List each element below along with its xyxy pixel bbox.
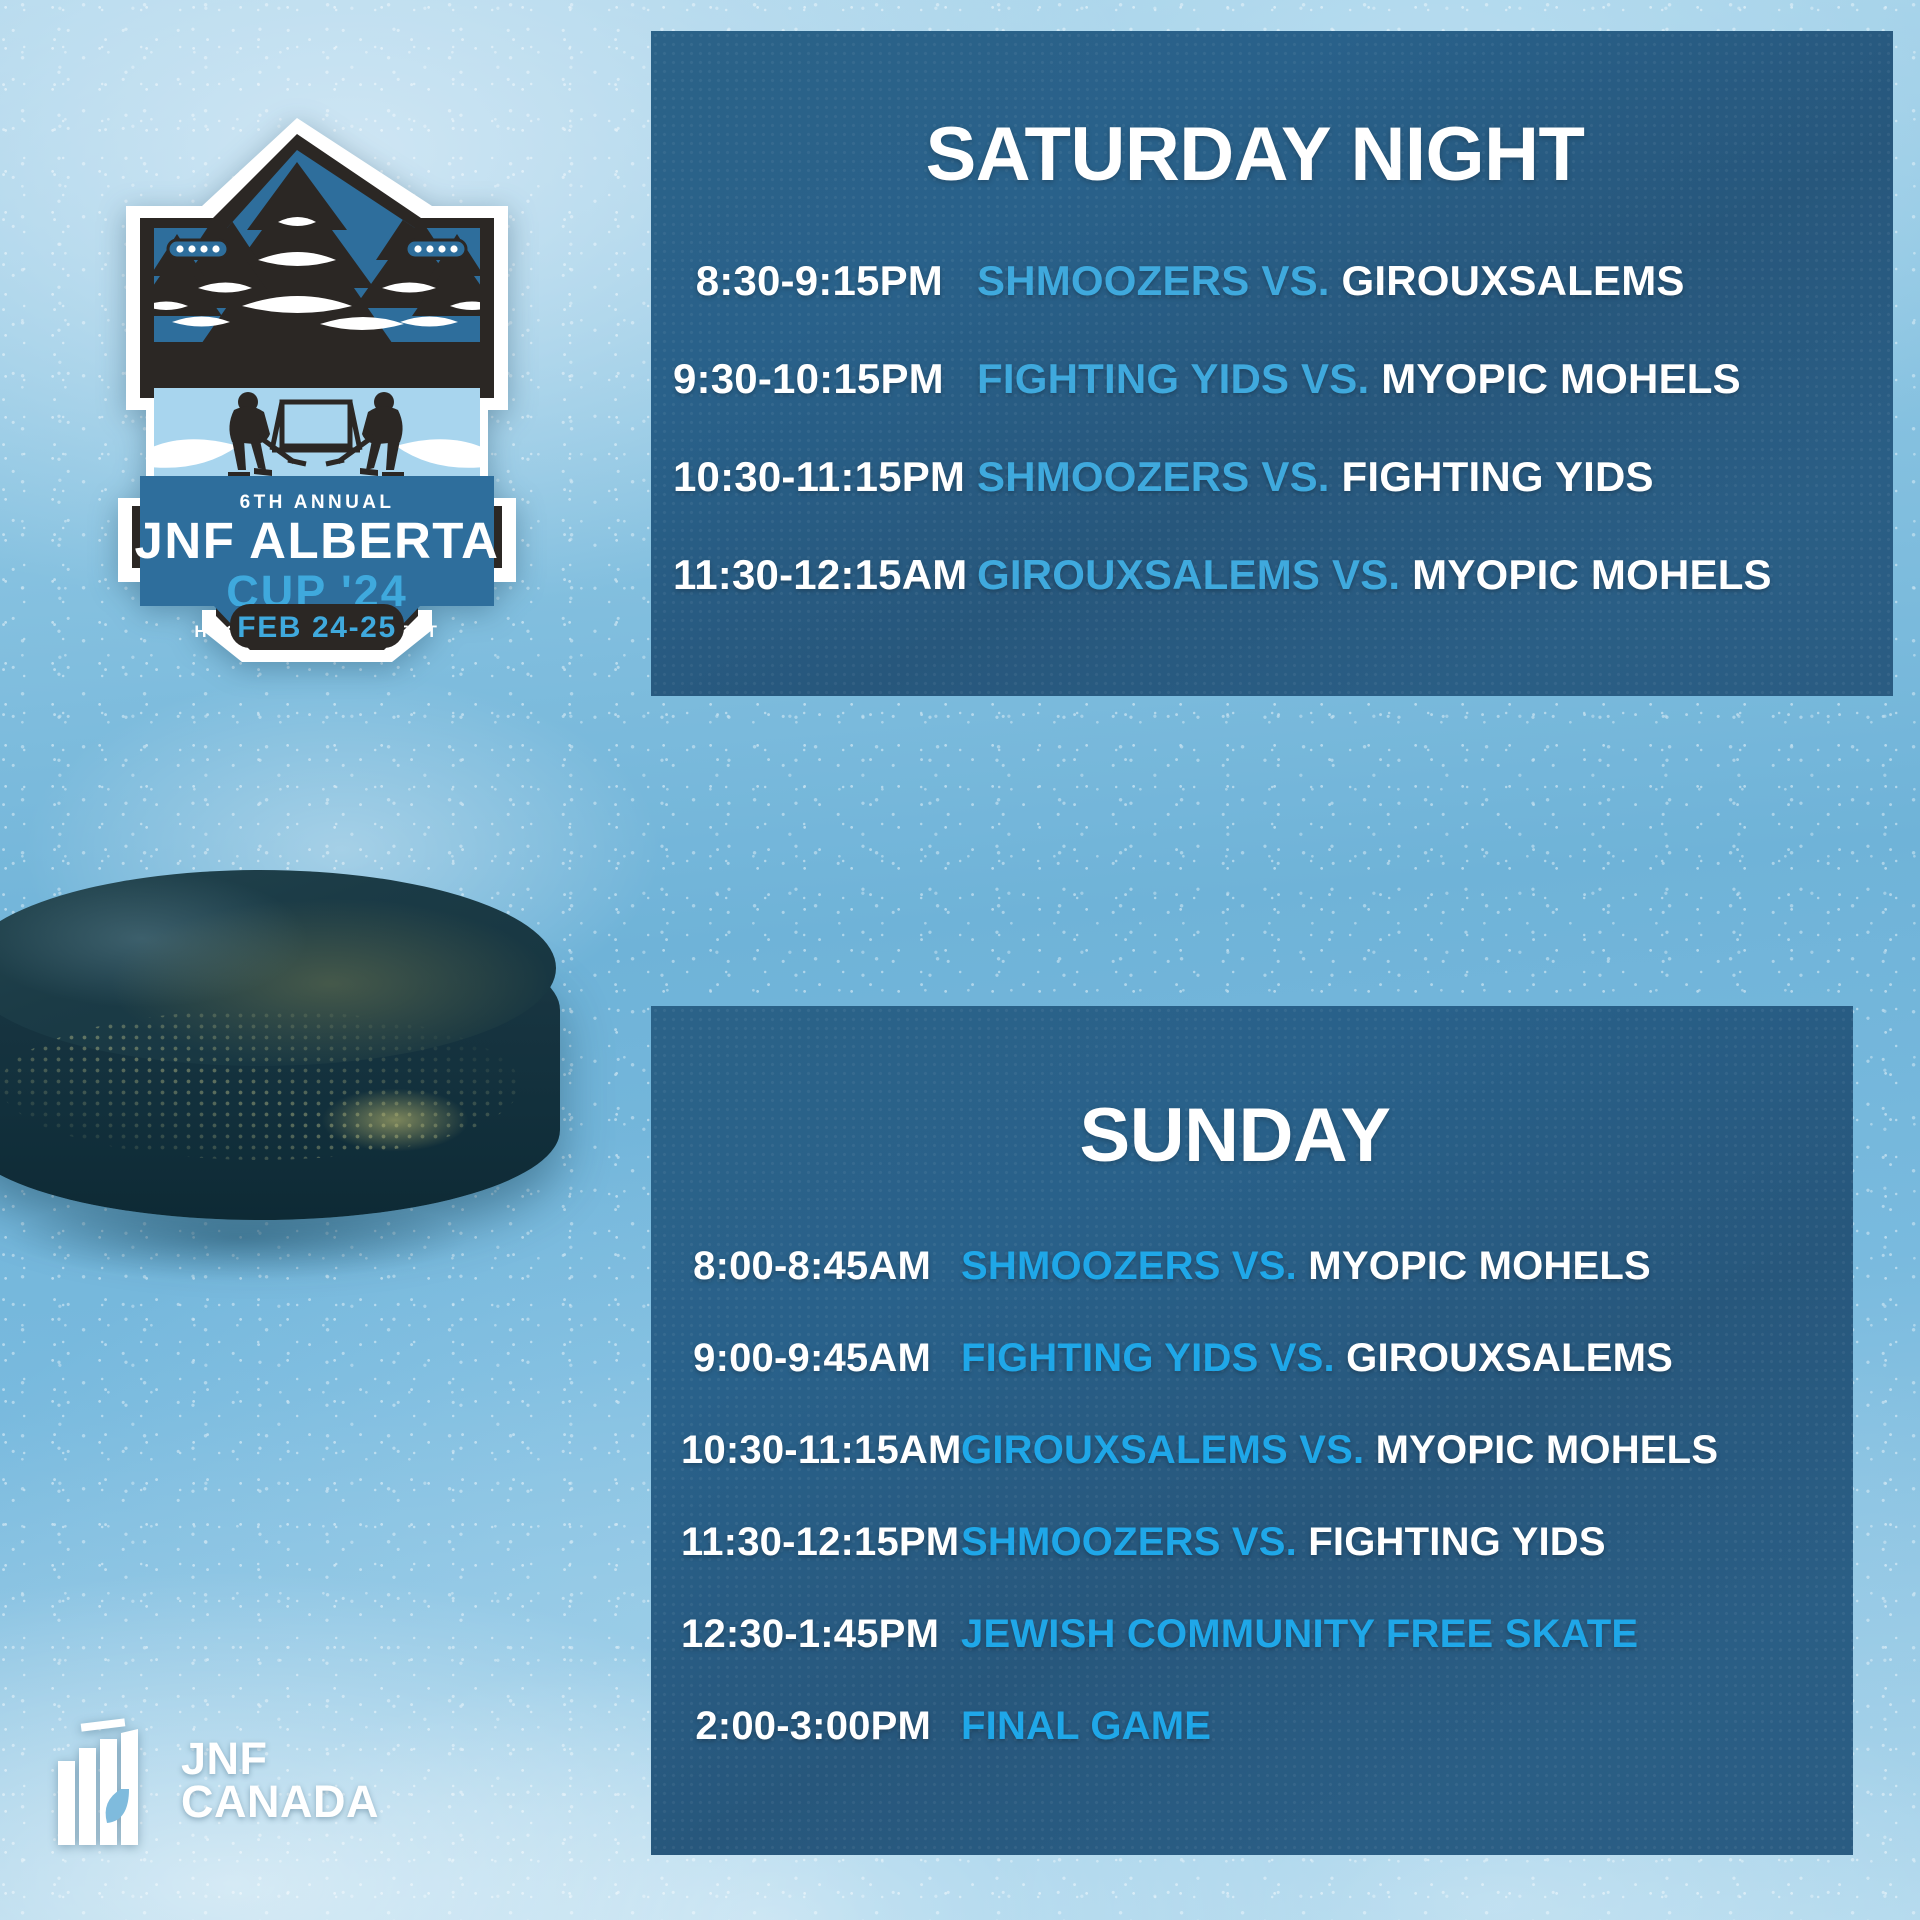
- team-b: FIGHTING YIDS: [1330, 453, 1654, 500]
- schedule-time: 10:30-11:15PM: [673, 453, 943, 501]
- vs-label: VS.: [1258, 1336, 1334, 1380]
- tournament-crest-logo: 6TH ANNUAL JNF ALBERTA CUP '24 HOCKEY TO…: [82, 110, 552, 670]
- schedule-row: 10:30-11:15AMGIROUXSALEMS VS. MYOPIC MOH…: [651, 1428, 1853, 1520]
- crest-eyebrow: 6TH ANNUAL: [240, 492, 395, 513]
- team-b: GIROUXSALEMS: [1335, 1336, 1673, 1380]
- team-b: MYOPIC MOHELS: [1369, 355, 1741, 402]
- vs-label: VS.: [1288, 1428, 1364, 1472]
- team-b: MYOPIC MOHELS: [1400, 551, 1772, 598]
- team-a: SHMOOZERS: [961, 1244, 1221, 1288]
- schedule-matchup: FIGHTING YIDS VS. MYOPIC MOHELS: [977, 355, 1741, 403]
- team-a: JEWISH COMMUNITY FREE SKATE: [961, 1612, 1638, 1656]
- schedule-row: 12:30-1:45PMJEWISH COMMUNITY FREE SKATE: [651, 1612, 1853, 1704]
- jnf-canada-mark-icon: [55, 1715, 159, 1845]
- crest-rink-band: [142, 388, 492, 478]
- crest-dates: FEB 24-25: [237, 611, 396, 644]
- schedule-row: 10:30-11:15PMSHMOOZERS VS. FIGHTING YIDS: [651, 453, 1893, 551]
- schedule-time: 12:30-1:45PM: [681, 1612, 931, 1657]
- schedule-row: 9:30-10:15PMFIGHTING YIDS VS. MYOPIC MOH…: [651, 355, 1893, 453]
- schedule-time: 11:30-12:15AM: [673, 551, 943, 599]
- sunday-title: SUNDAY: [651, 1006, 1853, 1174]
- schedule-row: 8:30-9:15PMSHMOOZERS VS. GIROUXSALEMS: [651, 257, 1893, 355]
- schedule-row: 11:30-12:15PMSHMOOZERS VS. FIGHTING YIDS: [651, 1520, 1853, 1612]
- schedule-matchup: SHMOOZERS VS. MYOPIC MOHELS: [961, 1244, 1651, 1289]
- crest-title-line1: JNF ALBERTA: [135, 512, 500, 569]
- hockey-puck-photo: [0, 860, 620, 1280]
- schedule-time: 8:00-8:45AM: [681, 1244, 931, 1289]
- vs-label: VS.: [1320, 551, 1400, 598]
- schedule-matchup: FIGHTING YIDS VS. GIROUXSALEMS: [961, 1336, 1673, 1381]
- schedule-time: 11:30-12:15PM: [681, 1520, 931, 1565]
- schedule-row: 11:30-12:15AMGIROUXSALEMS VS. MYOPIC MOH…: [651, 551, 1893, 649]
- schedule-time: 8:30-9:15PM: [673, 257, 943, 305]
- schedule-matchup: FINAL GAME: [961, 1704, 1211, 1749]
- vs-label: VS.: [1249, 453, 1329, 500]
- sunday-rows: 8:00-8:45AMSHMOOZERS VS. MYOPIC MOHELS9:…: [651, 1174, 1853, 1796]
- schedule-matchup: SHMOOZERS VS. GIROUXSALEMS: [977, 257, 1685, 305]
- schedule-time: 9:30-10:15PM: [673, 355, 943, 403]
- team-b: MYOPIC MOHELS: [1297, 1244, 1651, 1288]
- saturday-title: SATURDAY NIGHT: [651, 31, 1893, 193]
- schedule-row: 9:00-9:45AMFIGHTING YIDS VS. GIROUXSALEM…: [651, 1336, 1853, 1428]
- schedule-matchup: GIROUXSALEMS VS. MYOPIC MOHELS: [977, 551, 1772, 599]
- saturday-schedule-panel: SATURDAY NIGHT 8:30-9:15PMSHMOOZERS VS. …: [651, 31, 1893, 696]
- team-a: GIROUXSALEMS: [961, 1428, 1288, 1472]
- team-a: FIGHTING YIDS: [961, 1336, 1258, 1380]
- crest-forest-scene: [132, 150, 502, 400]
- jnf-logo-line1: JNF: [181, 1737, 379, 1780]
- schedule-matchup: JEWISH COMMUNITY FREE SKATE: [961, 1612, 1638, 1657]
- schedule-row: 8:00-8:45AMSHMOOZERS VS. MYOPIC MOHELS: [651, 1244, 1853, 1336]
- jnf-canada-wordmark: JNF CANADA: [181, 1737, 379, 1823]
- schedule-matchup: GIROUXSALEMS VS. MYOPIC MOHELS: [961, 1428, 1718, 1473]
- team-a: SHMOOZERS: [977, 453, 1249, 500]
- jnf-logo-line2: CANADA: [181, 1780, 379, 1823]
- team-a: SHMOOZERS: [961, 1520, 1221, 1564]
- schedule-row: 2:00-3:00PMFINAL GAME: [651, 1704, 1853, 1796]
- schedule-time: 2:00-3:00PM: [681, 1704, 931, 1749]
- schedule-time: 10:30-11:15AM: [681, 1428, 931, 1473]
- vs-label: VS.: [1249, 257, 1329, 304]
- team-b: GIROUXSALEMS: [1330, 257, 1685, 304]
- schedule-matchup: SHMOOZERS VS. FIGHTING YIDS: [961, 1520, 1606, 1565]
- team-b: FIGHTING YIDS: [1297, 1520, 1606, 1564]
- team-a: FIGHTING YIDS: [977, 355, 1289, 402]
- schedule-time: 9:00-9:45AM: [681, 1336, 931, 1381]
- team-a: GIROUXSALEMS: [977, 551, 1320, 598]
- saturday-rows: 8:30-9:15PMSHMOOZERS VS. GIROUXSALEMS9:3…: [651, 193, 1893, 649]
- team-a: FINAL GAME: [961, 1704, 1211, 1748]
- team-b: MYOPIC MOHELS: [1364, 1428, 1718, 1472]
- team-a: SHMOOZERS: [977, 257, 1249, 304]
- vs-label: VS.: [1289, 355, 1369, 402]
- vs-label: VS.: [1221, 1244, 1297, 1288]
- puck-highlight: [290, 1075, 500, 1165]
- sunday-schedule-panel: SUNDAY 8:00-8:45AMSHMOOZERS VS. MYOPIC M…: [651, 1006, 1853, 1855]
- jnf-canada-logo: JNF CANADA: [55, 1705, 395, 1855]
- schedule-matchup: SHMOOZERS VS. FIGHTING YIDS: [977, 453, 1654, 501]
- vs-label: VS.: [1221, 1520, 1297, 1564]
